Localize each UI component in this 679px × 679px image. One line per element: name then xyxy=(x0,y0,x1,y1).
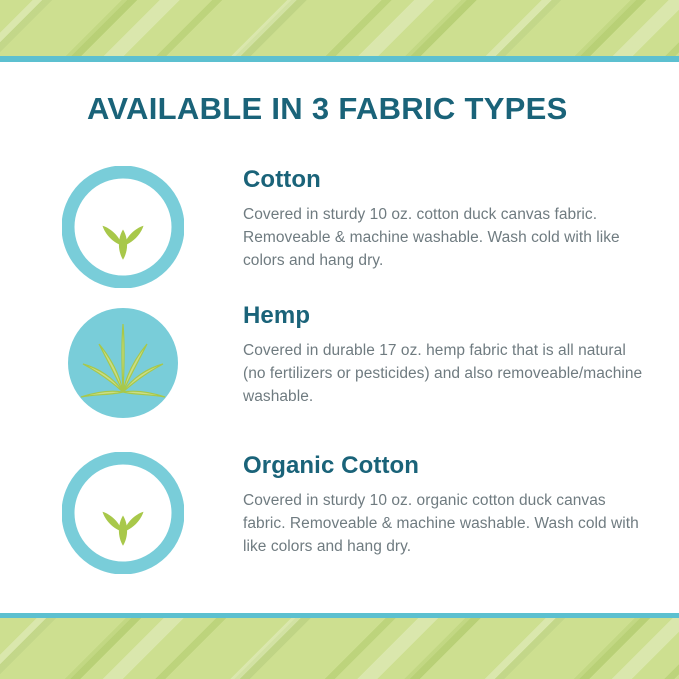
fabric-description: Covered in sturdy 10 oz. cotton duck can… xyxy=(243,203,643,272)
pattern-diagonal-shadows xyxy=(0,0,679,57)
organic-cotton-text-block: Organic Cotton Covered in sturdy 10 oz. … xyxy=(243,452,643,558)
hemp-text-block: Hemp Covered in durable 17 oz. hemp fabr… xyxy=(243,302,643,408)
bottom-band-green-pattern xyxy=(0,618,679,679)
fabric-description: Covered in sturdy 10 oz. organic cotton … xyxy=(243,489,643,558)
bottom-decorative-band xyxy=(0,613,679,679)
pattern-diagonal-shadows xyxy=(0,618,679,679)
cotton-boll-icon xyxy=(62,166,184,288)
top-band-blue-stripe xyxy=(0,56,679,62)
fabric-name: Hemp xyxy=(243,302,643,330)
fabric-description: Covered in durable 17 oz. hemp fabric th… xyxy=(243,339,643,408)
cotton-text-block: Cotton Covered in sturdy 10 oz. cotton d… xyxy=(243,166,643,272)
top-decorative-band xyxy=(0,0,679,62)
page-title: AVAILABLE IN 3 FABRIC TYPES xyxy=(87,92,568,126)
top-band-green-pattern xyxy=(0,0,679,57)
fabric-name: Organic Cotton xyxy=(243,452,643,480)
fabric-name: Cotton xyxy=(243,166,643,194)
infographic-page: AVAILABLE IN 3 FABRIC TYPES Cotton Cover… xyxy=(0,0,679,679)
organic-cotton-boll-icon xyxy=(62,452,184,574)
hemp-leaf-icon xyxy=(62,302,184,424)
